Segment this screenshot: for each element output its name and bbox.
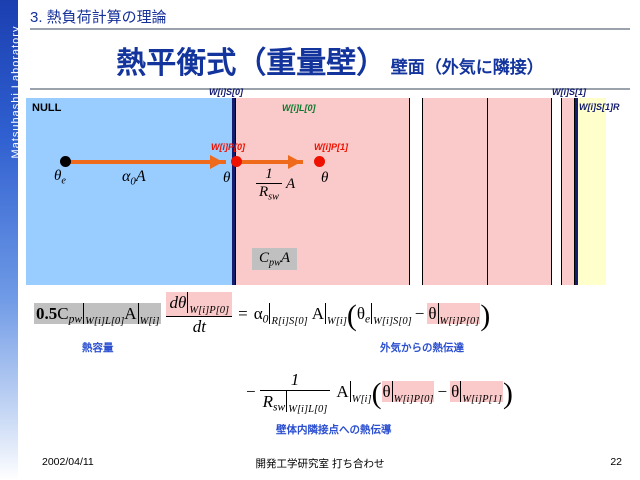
theta-e-label: θe xyxy=(54,168,66,186)
alpha0A-label: α0A xyxy=(122,168,146,187)
slab-gap-b xyxy=(552,98,561,285)
label-point-0: W[i]P[0] xyxy=(211,142,245,152)
wall-slab-inner-divider xyxy=(487,98,488,285)
node-point-1 xyxy=(314,156,325,167)
line2-theta-b: θW[i]P[1] xyxy=(450,381,503,402)
null-label: NULL xyxy=(32,102,61,114)
footer-page-number: 22 xyxy=(610,456,622,468)
slab-gap-a xyxy=(410,98,422,285)
node-outside-air xyxy=(60,156,71,167)
header-rule-top xyxy=(30,28,630,30)
line2-theta-a: θW[i]P[0] xyxy=(382,381,435,402)
page-title: 熱平衡式（重量壁） 壁面（外気に隣接） xyxy=(30,38,630,82)
caption-heat-capacity: 熱容量 xyxy=(82,340,114,355)
conduction-resistance-fraction: 1RswW[i]L[0] xyxy=(260,370,331,415)
equation-line-2: −1RswW[i]L[0]AW[i](θW[i]P[0]−θW[i]P[1]) xyxy=(246,370,513,415)
heat-capacity-box: CpwA xyxy=(252,248,297,270)
label-surface-1: W[i]S[1] xyxy=(552,87,586,97)
arrow-convection-head xyxy=(210,155,223,169)
line2-area-term: AW[i] xyxy=(336,382,371,401)
lhs-capacity-term: 0.5CpwW[i]L[0]AW[i] xyxy=(34,303,161,324)
caption-conduction: 壁体内隣接点への熱伝導 xyxy=(276,422,392,437)
section-kicker: 3. 熱負荷計算の理論 xyxy=(30,6,167,27)
close-paren-1: ) xyxy=(480,299,490,332)
page-title-sub: 壁面（外気に隣接） xyxy=(391,58,544,77)
theta-e-term: θeW[i]S[0] xyxy=(357,304,412,323)
caption-convection: 外気からの熱伝達 xyxy=(380,340,464,355)
page-title-main: 熱平衡式（重量壁） xyxy=(116,47,386,80)
theta-surface-label: θ xyxy=(223,170,230,187)
label-point-1: W[i]P[1] xyxy=(314,142,348,152)
equation-line-1: 0.5CpwW[i]L[0]AW[i]dθW[i]P[0]dt=α0R[i]S[… xyxy=(34,292,490,337)
node-point-0 xyxy=(231,156,242,167)
header-rule-bottom xyxy=(30,88,630,90)
time-derivative: dθW[i]P[0]dt xyxy=(166,292,232,337)
rhs-area-term: AW[i] xyxy=(312,304,347,323)
brand-label: Matsuhashi Laboratory xyxy=(10,0,22,192)
outside-air-region xyxy=(26,98,232,285)
brand-sidebar: Matsuhashi Laboratory xyxy=(0,0,18,480)
label-surface-0: W[i]S[0] xyxy=(209,87,243,97)
label-surface-1-room: W[i]S[1]R xyxy=(579,102,620,112)
wall-diagram: NULL W[i]S[0] W[i]L[0] W[i]S[1] W[i]S[1]… xyxy=(26,98,606,285)
close-paren-2: ) xyxy=(503,377,513,410)
alpha-term: α0R[i]S[0] xyxy=(254,304,308,323)
room-side-region xyxy=(578,98,606,285)
wall-slab-last xyxy=(561,98,575,285)
theta-p0-term: θW[i]P[0] xyxy=(427,303,480,324)
open-paren-2: ( xyxy=(372,377,382,410)
footer-title: 開発工学研究室 打ち合わせ xyxy=(0,456,640,471)
resistance-fraction: 1 Rsw xyxy=(256,166,282,202)
open-paren-1: ( xyxy=(347,299,357,332)
arrow-convection-line xyxy=(66,160,226,164)
label-layer-0: W[i]L[0] xyxy=(282,103,316,113)
conduction-resistance-label: 1 Rsw A xyxy=(256,166,295,202)
theta-point1-label: θ xyxy=(321,170,328,187)
